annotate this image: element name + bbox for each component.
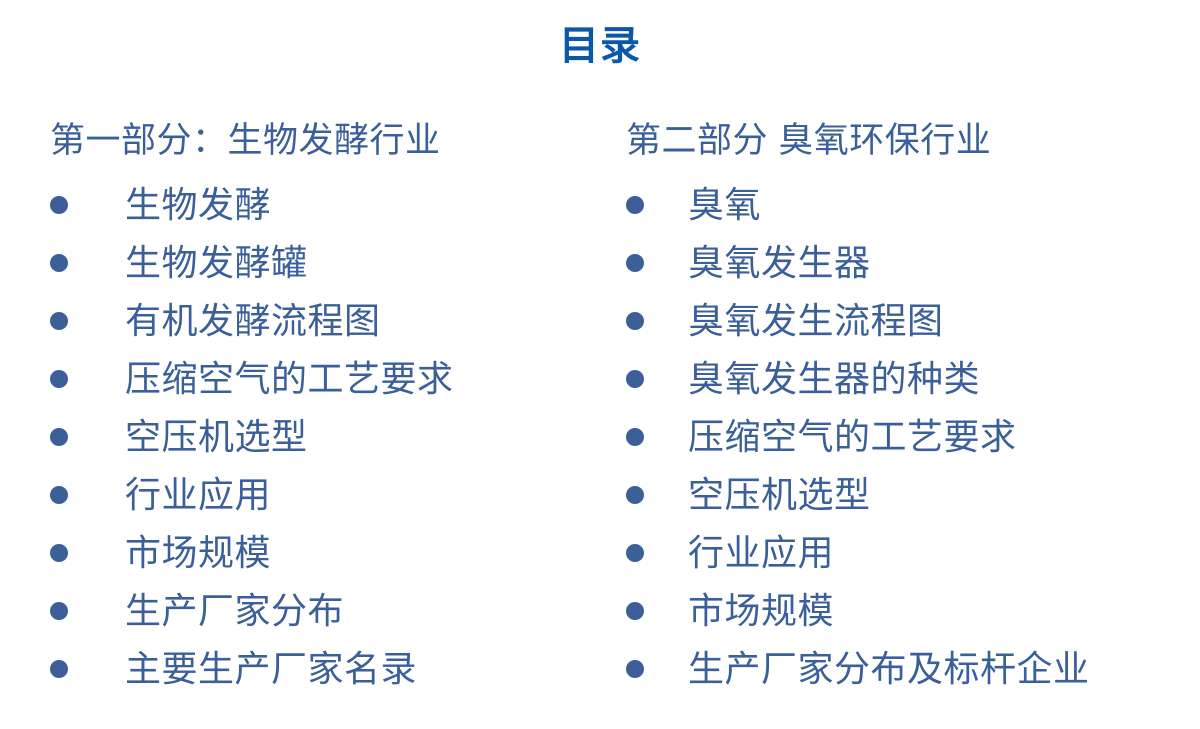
bullet-icon [50,660,68,678]
toc-item-label: 有机发酵流程图 [125,299,381,343]
toc-item-label: 压缩空气的工艺要求 [125,357,454,401]
bullet-icon [626,602,644,620]
list-item[interactable]: 压缩空气的工艺要求 [50,350,588,408]
bullet-icon [50,602,68,620]
toc-column-part-one: 第一部分：生物发酵行业 生物发酵 生物发酵罐 有机发酵流程图 压缩空气的工艺要求 [0,118,588,698]
list-item[interactable]: 臭氧发生流程图 [626,292,1200,350]
list-item[interactable]: 生产厂家分布及标杆企业 [626,640,1200,698]
list-item[interactable]: 空压机选型 [626,466,1200,524]
list-item[interactable]: 空压机选型 [50,408,588,466]
bullet-icon [626,370,644,388]
toc-list-part-one: 生物发酵 生物发酵罐 有机发酵流程图 压缩空气的工艺要求 空压机选型 [50,176,588,698]
toc-item-label: 市场规模 [125,531,271,575]
bullet-icon [626,428,644,446]
toc-item-label: 臭氧发生流程图 [688,299,944,343]
toc-item-label: 空压机选型 [688,473,871,517]
toc-item-label: 生物发酵 [125,183,271,227]
bullet-icon [50,428,68,446]
toc-item-label: 压缩空气的工艺要求 [688,415,1017,459]
list-item[interactable]: 主要生产厂家名录 [50,640,588,698]
toc-slide: 目录 第一部分：生物发酵行业 生物发酵 生物发酵罐 有机发酵流程图 [0,0,1200,729]
list-item[interactable]: 行业应用 [626,524,1200,582]
list-item[interactable]: 行业应用 [50,466,588,524]
bullet-icon [50,254,68,272]
toc-column-part-two: 第二部分 臭氧环保行业 臭氧 臭氧发生器 臭氧发生流程图 臭氧发生器的种类 [588,118,1200,698]
bullet-icon [50,196,68,214]
bullet-icon [626,544,644,562]
toc-list-part-two: 臭氧 臭氧发生器 臭氧发生流程图 臭氧发生器的种类 压缩空气的工艺要求 [626,176,1200,698]
page-title: 目录 [0,22,1200,70]
list-item[interactable]: 生产厂家分布 [50,582,588,640]
bullet-icon [50,486,68,504]
bullet-icon [50,544,68,562]
toc-item-label: 市场规模 [688,589,834,633]
list-item[interactable]: 臭氧 [626,176,1200,234]
bullet-icon [626,312,644,330]
bullet-icon [50,370,68,388]
bullet-icon [50,312,68,330]
toc-item-label: 臭氧发生器 [688,241,871,285]
list-item[interactable]: 市场规模 [50,524,588,582]
toc-item-label: 臭氧 [688,183,761,227]
toc-item-label: 空压机选型 [125,415,308,459]
toc-item-label: 生产厂家分布及标杆企业 [688,647,1090,691]
bullet-icon [626,254,644,272]
toc-item-label: 生产厂家分布 [125,589,344,633]
bullet-icon [626,486,644,504]
toc-item-label: 主要生产厂家名录 [125,647,417,691]
toc-item-label: 臭氧发生器的种类 [688,357,980,401]
bullet-icon [626,196,644,214]
toc-columns: 第一部分：生物发酵行业 生物发酵 生物发酵罐 有机发酵流程图 压缩空气的工艺要求 [0,118,1200,718]
list-item[interactable]: 臭氧发生器的种类 [626,350,1200,408]
list-item[interactable]: 压缩空气的工艺要求 [626,408,1200,466]
section-heading-part-two: 第二部分 臭氧环保行业 [626,118,1200,164]
toc-item-label: 生物发酵罐 [125,241,308,285]
list-item[interactable]: 有机发酵流程图 [50,292,588,350]
list-item[interactable]: 市场规模 [626,582,1200,640]
toc-item-label: 行业应用 [125,473,271,517]
toc-item-label: 行业应用 [688,531,834,575]
list-item[interactable]: 生物发酵罐 [50,234,588,292]
list-item[interactable]: 生物发酵 [50,176,588,234]
bullet-icon [626,660,644,678]
section-heading-part-one: 第一部分：生物发酵行业 [50,118,588,164]
list-item[interactable]: 臭氧发生器 [626,234,1200,292]
